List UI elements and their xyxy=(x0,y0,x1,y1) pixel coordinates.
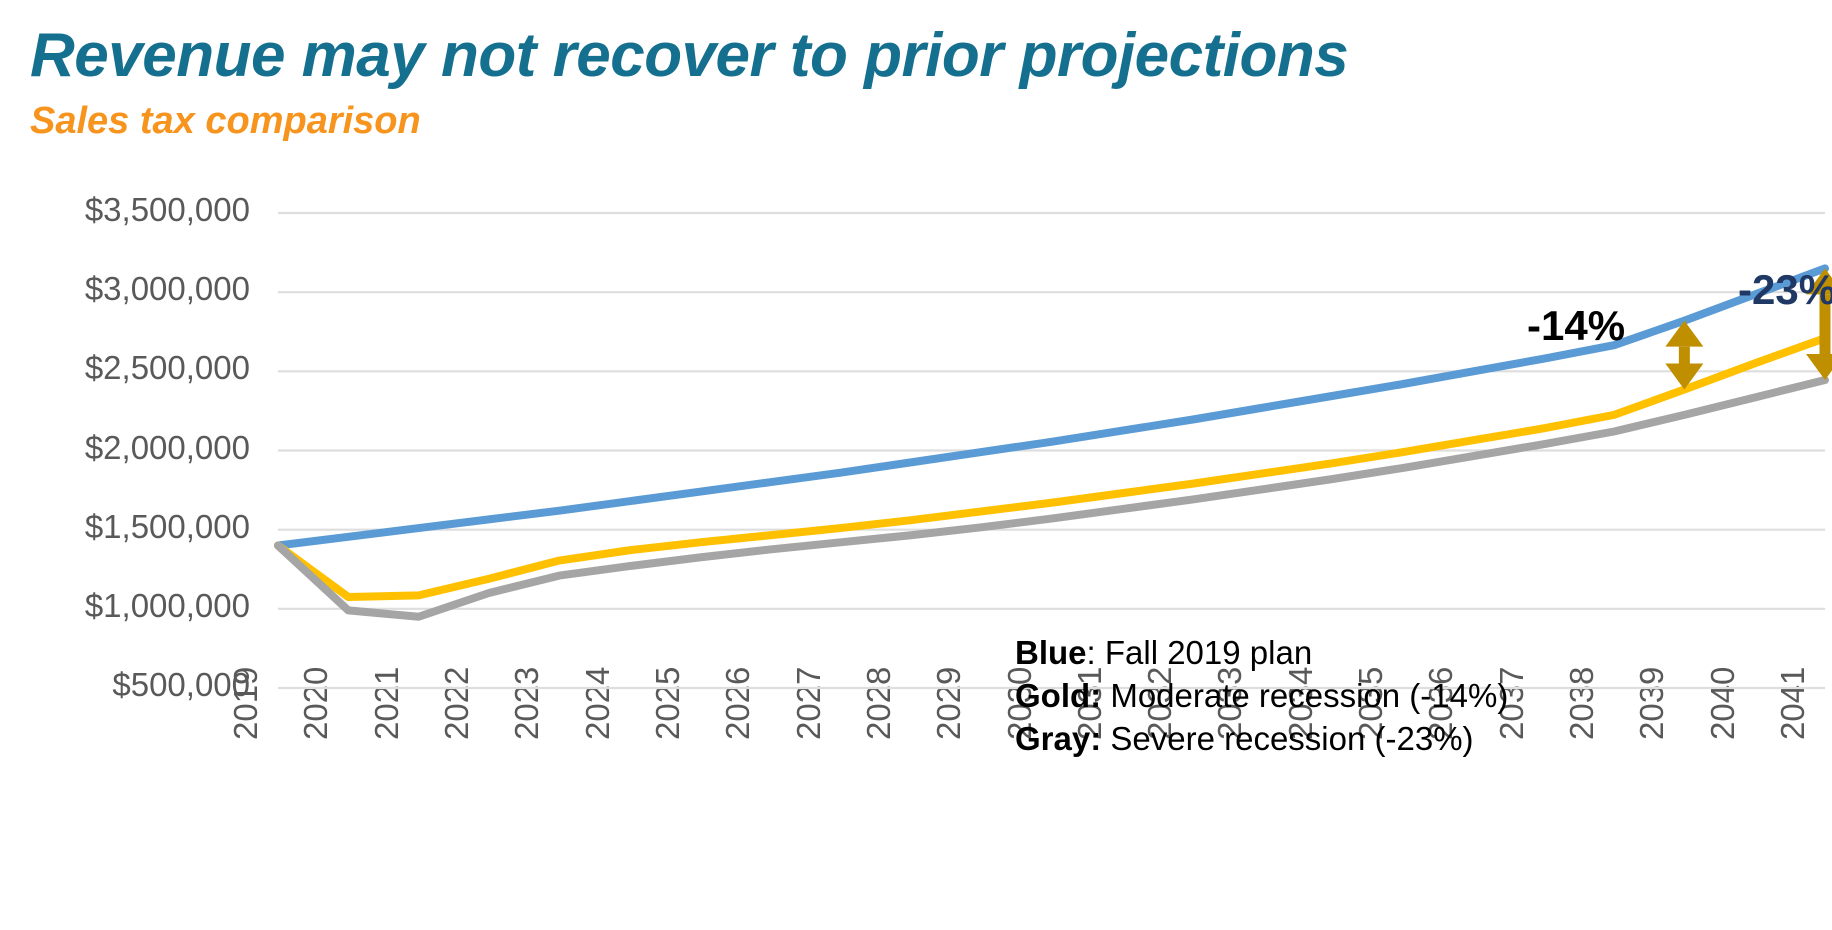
legend-item-description: Severe recession (-23%) xyxy=(1101,720,1473,757)
legend-item: Gold: Moderate recession (-14%) xyxy=(1015,675,1508,718)
page-title: Revenue may not recover to prior project… xyxy=(30,20,1348,91)
legend-item-description: : Fall 2019 plan xyxy=(1087,634,1313,671)
gridlines xyxy=(278,213,1825,688)
annotation-label-14: -14% xyxy=(1527,302,1625,350)
plot-svg xyxy=(278,213,1825,688)
arrow-23-head-down xyxy=(1806,354,1832,380)
y-axis-tick-label: $3,500,000 xyxy=(0,191,250,229)
y-axis-tick-label: $500,000 xyxy=(0,666,250,704)
legend-item: Blue: Fall 2019 plan xyxy=(1015,632,1508,675)
chart-canvas: Revenue may not recover to prior project… xyxy=(0,0,1832,930)
legend-item-series-name: Blue xyxy=(1015,634,1087,671)
legend-item-series-name: Gray: xyxy=(1015,720,1101,757)
series-line-moderate-recession-14 xyxy=(278,338,1825,597)
y-axis-tick-label: $3,000,000 xyxy=(0,270,250,308)
y-axis-tick-label: $2,000,000 xyxy=(0,429,250,467)
legend: Blue: Fall 2019 planGold: Moderate reces… xyxy=(1015,632,1508,761)
plot-area xyxy=(278,213,1825,688)
y-axis-tick-label: $1,500,000 xyxy=(0,508,250,546)
legend-item-series-name: Gold: xyxy=(1015,677,1101,714)
legend-item-description: Moderate recession (-14%) xyxy=(1101,677,1508,714)
y-axis-tick-label: $1,000,000 xyxy=(0,587,250,625)
page-subtitle: Sales tax comparison xyxy=(30,100,421,143)
x-axis-tick-label: 2019 xyxy=(227,667,265,740)
legend-item: Gray: Severe recession (-23%) xyxy=(1015,718,1508,761)
annotation-label-23: -23% xyxy=(1738,266,1832,314)
y-axis-tick-label: $2,500,000 xyxy=(0,349,250,387)
